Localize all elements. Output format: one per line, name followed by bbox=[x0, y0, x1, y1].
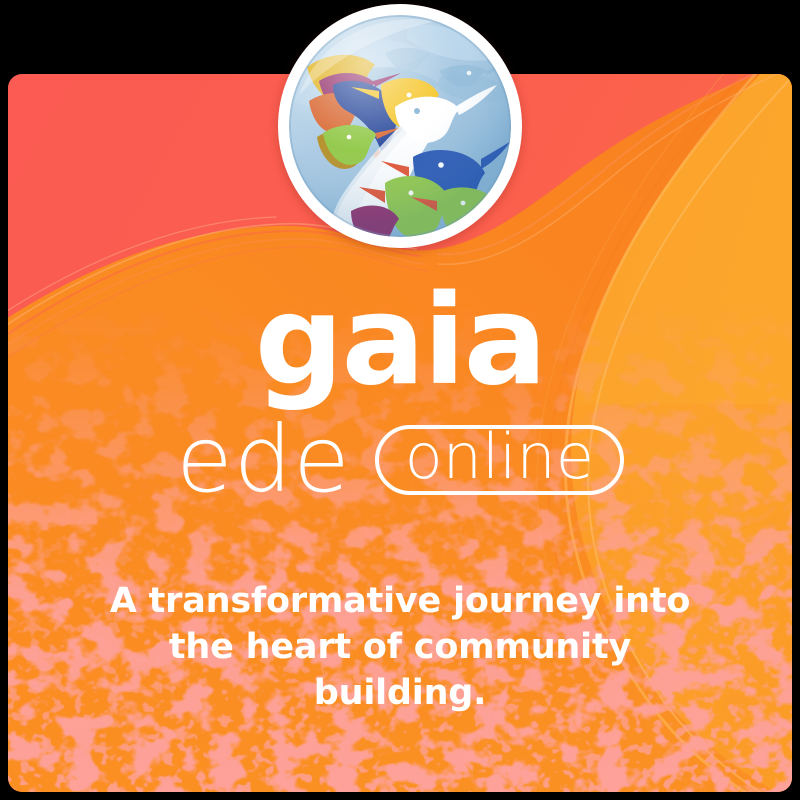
online-badge[interactable]: online bbox=[375, 425, 624, 495]
brand-wordmark: gaia bbox=[0, 282, 800, 400]
brand-sub-wordmark: ede bbox=[176, 412, 351, 508]
poster-stage: gaia ede online A transformative journey… bbox=[0, 0, 800, 800]
logo-badge-inner bbox=[289, 15, 511, 237]
logo-badge[interactable] bbox=[278, 4, 522, 248]
brand-subrow: ede online bbox=[0, 412, 800, 508]
tagline-text: A transformative journey into the heart … bbox=[100, 578, 700, 716]
globe-with-birds-icon bbox=[289, 15, 511, 237]
